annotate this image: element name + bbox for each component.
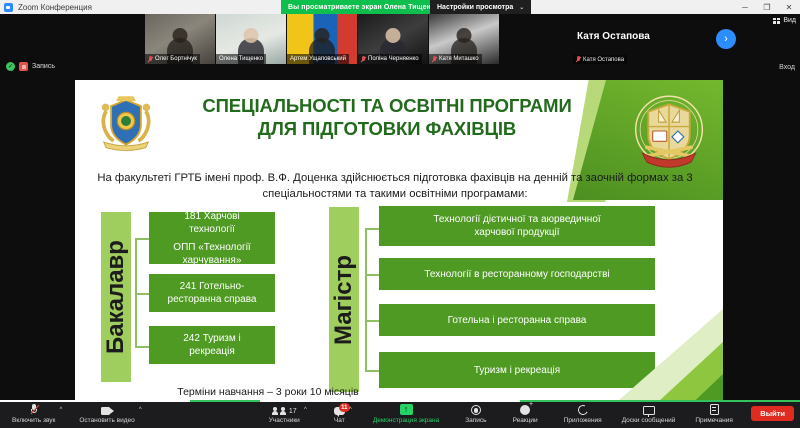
slide-paragraph: На факультеті ГРТБ імені проф. В.Ф. Доце… — [95, 170, 695, 203]
toolbar-label: Остановить видео — [79, 417, 134, 424]
leave-meeting-button[interactable]: Выйти — [751, 406, 794, 421]
bachelor-program-box: 181 Харчові технології ОПП «Технології х… — [149, 212, 275, 264]
master-program-box: Технології дієтичної та аюрведичної харч… — [379, 206, 655, 246]
connector-line — [365, 370, 379, 372]
master-band: Магістр — [329, 207, 359, 392]
side-panel-toggle[interactable]: Вход — [779, 64, 795, 71]
zoom-meeting-window: Zoom Конференция Вы просматриваете экран… — [0, 0, 800, 428]
connector-line — [365, 228, 379, 230]
recording-label: Запись — [32, 63, 55, 70]
toolbar-item-notes[interactable]: Примечания — [693, 400, 735, 428]
participant-filmstrip: Олег Бортнічук Олена Тищенко Артем Ущапо… — [145, 14, 565, 64]
toolbar-item-record[interactable]: Запись — [463, 400, 488, 428]
program-line: Технології дієтичної та аюрведичної — [433, 213, 600, 226]
connector-line — [135, 238, 149, 240]
grid-view-icon — [773, 18, 780, 24]
bachelor-program-box: 242 Туризм і рекреація — [149, 326, 275, 364]
participant-tile[interactable]: Артем Ущаповський — [287, 14, 357, 64]
chevron-up-icon[interactable]: ^ — [349, 407, 352, 413]
notes-icon — [710, 404, 719, 415]
meeting-stage: Олег Бортнічук Олена Тищенко Артем Ущапо… — [0, 14, 800, 400]
mic-muted-icon — [576, 56, 581, 63]
chevron-up-icon[interactable]: ^ — [60, 407, 63, 413]
faculty-emblem-icon — [632, 94, 706, 168]
toolbar-label: Демонстрация экрана — [373, 417, 439, 424]
chevron-up-icon[interactable]: ^ — [304, 407, 307, 413]
toolbar-label: Доски сообщений — [622, 417, 676, 424]
participant-tile[interactable]: Олена Тищенко — [216, 14, 286, 64]
recording-stop-icon[interactable] — [19, 62, 28, 71]
whiteboard-icon — [643, 404, 655, 415]
program-line: Готельна і ресторанна справа — [448, 314, 587, 327]
chat-icon: 11 — [334, 404, 345, 415]
connector-line — [135, 293, 149, 295]
participant-tile[interactable]: Олег Бортнічук — [145, 14, 215, 64]
maximize-button[interactable]: ❐ — [756, 0, 778, 14]
program-line: Туризм і рекреація — [474, 364, 560, 377]
toolbar-item-whiteboards[interactable]: Доски сообщений — [620, 400, 678, 428]
participant-tile[interactable]: Поліна Черняенко — [358, 14, 428, 64]
chevron-right-icon[interactable]: › — [716, 29, 736, 49]
apps-icon — [578, 404, 588, 415]
screen-share-banner: Вы просматриваете экран Олена Тищенко — [281, 0, 446, 14]
toolbar-item-participants[interactable]: 17 Участники ^ — [267, 400, 302, 428]
participant-name-label: Олег Бортнічук — [145, 54, 200, 64]
active-speaker-panel: Катя Остапова › Катя Остапова Вид — [565, 14, 800, 72]
record-icon — [471, 404, 481, 415]
university-coat-of-arms-icon — [95, 90, 157, 152]
minimize-button[interactable]: ─ — [734, 0, 756, 14]
participant-name-label: Катя Миташко — [429, 54, 482, 64]
program-line: харчової продукції — [474, 226, 559, 239]
toolbar-item-stop-video[interactable]: Остановить видео ^ — [77, 400, 136, 428]
toolbar-item-share-screen[interactable]: Демонстрация экрана — [371, 400, 441, 428]
view-mode-label: Вид — [783, 17, 796, 24]
mic-muted-icon — [361, 56, 366, 63]
toolbar-label: Участники — [269, 417, 300, 424]
toolbar-label: Чат — [334, 417, 345, 424]
program-line: ресторанна справа — [168, 293, 257, 306]
active-speaker-name: Катя Остапова — [577, 31, 650, 42]
participants-icon: 17 — [272, 404, 297, 415]
program-line: 242 Туризм і — [183, 332, 241, 345]
view-settings-button[interactable]: Настройки просмотра ⌄ — [430, 0, 531, 14]
chevron-up-icon[interactable]: ^ — [139, 407, 142, 413]
view-mode-button[interactable]: Вид — [773, 17, 796, 24]
participant-name-label: Олена Тищенко — [216, 54, 266, 64]
reactions-icon — [520, 404, 530, 415]
bachelor-band: Бакалавр — [101, 212, 131, 382]
meeting-toolbar: Включить звук ^ Остановить видео ^ 17 Уч… — [0, 400, 800, 428]
mic-muted-icon — [432, 56, 437, 63]
slide-corner-decor — [603, 309, 723, 414]
view-settings-label: Настройки просмотра — [437, 4, 513, 11]
recording-status[interactable]: ✓ Запись — [6, 62, 55, 71]
share-screen-icon — [400, 404, 413, 415]
toolbar-label: Включить звук — [12, 417, 55, 424]
participants-count: 17 — [289, 408, 297, 415]
title-bar: Zoom Конференция Вы просматриваете экран… — [0, 0, 800, 14]
toolbar-item-chat[interactable]: 11 Чат ^ — [332, 400, 347, 428]
toolbar-item-apps[interactable]: Приложения — [562, 400, 604, 428]
camera-icon — [101, 404, 114, 415]
connector-line — [365, 274, 379, 276]
program-line: 181 Харчові — [184, 210, 239, 223]
program-line: технології — [189, 223, 235, 236]
program-line: харчування» — [183, 254, 242, 267]
microphone-muted-icon — [30, 404, 38, 415]
toolbar-label: Примечания — [695, 417, 733, 424]
toolbar-item-unmute[interactable]: Включить звук ^ — [10, 400, 57, 428]
program-line: Технології в ресторанному господарстві — [424, 268, 609, 281]
chevron-down-icon: ⌄ — [519, 4, 524, 11]
zoom-logo-icon — [4, 3, 13, 12]
program-line: ОПП «Технології — [173, 241, 250, 254]
mic-muted-icon — [148, 56, 153, 63]
slide-title-line1: СПЕЦІАЛЬНОСТІ ТА ОСВІТНІ ПРОГРАМИ — [202, 95, 571, 116]
connector-line — [135, 346, 149, 348]
window-title: Zoom Конференция — [18, 3, 92, 12]
connector-line — [365, 320, 379, 322]
program-line: рекреація — [189, 345, 235, 358]
bachelor-program-box: 241 Готельно- ресторанна справа — [149, 274, 275, 312]
shared-slide: СПЕЦІАЛЬНОСТІ ТА ОСВІТНІ ПРОГРАМИ ДЛЯ ПІ… — [75, 80, 723, 414]
toolbar-label: Запись — [465, 417, 486, 424]
slide-title-line2: ДЛЯ ПІДГОТОВКИ ФАХІВЦІВ — [167, 117, 607, 140]
participant-tile[interactable]: Катя Миташко — [429, 14, 499, 64]
checkmark-icon: ✓ — [6, 62, 15, 71]
window-controls: ─ ❐ ✕ — [734, 0, 800, 14]
toolbar-item-reactions[interactable]: Реакции — [511, 400, 540, 428]
participant-name-label: Поліна Черняенко — [358, 54, 422, 64]
study-terms-line1: Терміни навчання – 3 роки 10 місяців — [103, 385, 433, 399]
toolbar-label: Приложения — [564, 417, 602, 424]
program-line: 241 Готельно- — [180, 280, 245, 293]
active-speaker-tag: Катя Остапова — [573, 55, 627, 64]
master-program-box: Технології в ресторанному господарстві — [379, 258, 655, 290]
toolbar-label: Реакции — [513, 417, 538, 424]
close-button[interactable]: ✕ — [778, 0, 800, 14]
slide-title: СПЕЦІАЛЬНОСТІ ТА ОСВІТНІ ПРОГРАМИ ДЛЯ ПІ… — [167, 94, 607, 140]
connector-line — [365, 228, 367, 372]
participant-name-label: Артем Ущаповський — [287, 54, 349, 64]
